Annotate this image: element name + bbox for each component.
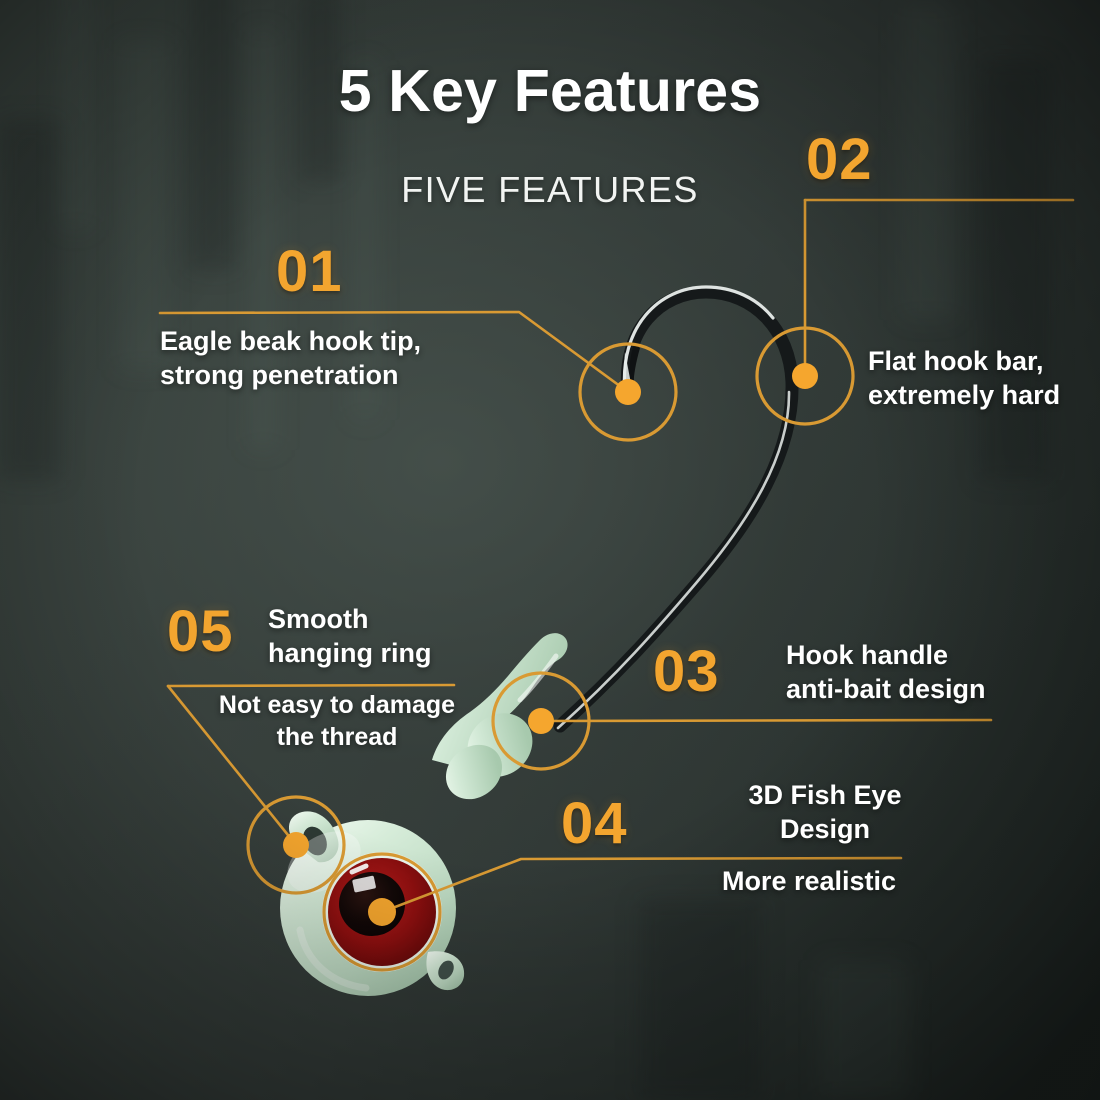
fish-eye-iris bbox=[328, 858, 436, 966]
feature-number-04: 04 bbox=[561, 790, 628, 857]
fish-eye-pupil bbox=[339, 872, 405, 936]
lure-head bbox=[280, 820, 456, 996]
marker-ring-05 bbox=[248, 797, 344, 893]
leader-underline-05 bbox=[168, 685, 454, 686]
hook-bend-highlight bbox=[624, 287, 773, 392]
feature-subtitle-04: More realistic bbox=[664, 864, 954, 898]
feature-number-02: 02 bbox=[806, 126, 873, 193]
marker-ring-02 bbox=[757, 328, 853, 424]
marker-ring-04 bbox=[324, 854, 440, 970]
feature-subtitle-05: Not easy to damage the thread bbox=[205, 690, 469, 753]
leader-line-03 bbox=[541, 720, 991, 721]
feature-title-05: Smooth hanging ring bbox=[268, 602, 518, 670]
fish-eye-highlight bbox=[352, 875, 376, 892]
marker-dot-02 bbox=[792, 363, 818, 389]
marker-dot-04 bbox=[368, 898, 396, 926]
feature-title-04: 3D Fish Eye Design bbox=[700, 778, 950, 846]
hook-point bbox=[629, 344, 640, 394]
bg-texture-bar bbox=[190, 0, 236, 270]
marker-ring-03 bbox=[493, 673, 589, 769]
page-subtitle: FIVE FEATURES bbox=[0, 169, 1100, 211]
lure-bottom-tab bbox=[426, 951, 464, 990]
hanging-ring-hole bbox=[299, 823, 332, 860]
feature-title-02: Flat hook bar, extremely hard bbox=[868, 344, 1100, 412]
hanging-ring-lug bbox=[289, 811, 339, 862]
hook-point-highlight bbox=[622, 352, 633, 394]
marker-ring-01 bbox=[580, 344, 676, 440]
infographic-canvas: 5 Key Features FIVE FEATURES 01 Eagle be… bbox=[0, 0, 1100, 1100]
lure-collar-highlight bbox=[520, 656, 556, 700]
feature-title-03: Hook handle anti-bait design bbox=[786, 638, 1086, 706]
bg-texture-bar bbox=[640, 900, 760, 1100]
feature-title-01: Eagle beak hook tip, strong penetration bbox=[160, 324, 560, 392]
feature-number-03: 03 bbox=[653, 638, 720, 705]
feature-number-01: 01 bbox=[276, 238, 343, 305]
fish-eye-socket bbox=[322, 852, 442, 972]
marker-dot-01 bbox=[615, 379, 641, 405]
marker-dot-05 bbox=[283, 832, 309, 858]
lure-bottom-tab-hole bbox=[435, 958, 457, 982]
lure-head-gloss bbox=[276, 819, 371, 905]
lure-head-rim-light bbox=[300, 930, 366, 988]
bg-texture-bar bbox=[820, 960, 910, 1100]
marker-dot-03 bbox=[528, 708, 554, 734]
bg-texture-bar bbox=[900, 0, 956, 320]
fish-eye-highlight bbox=[352, 866, 366, 872]
feature-number-05: 05 bbox=[167, 598, 234, 665]
page-title: 5 Key Features bbox=[0, 57, 1100, 125]
